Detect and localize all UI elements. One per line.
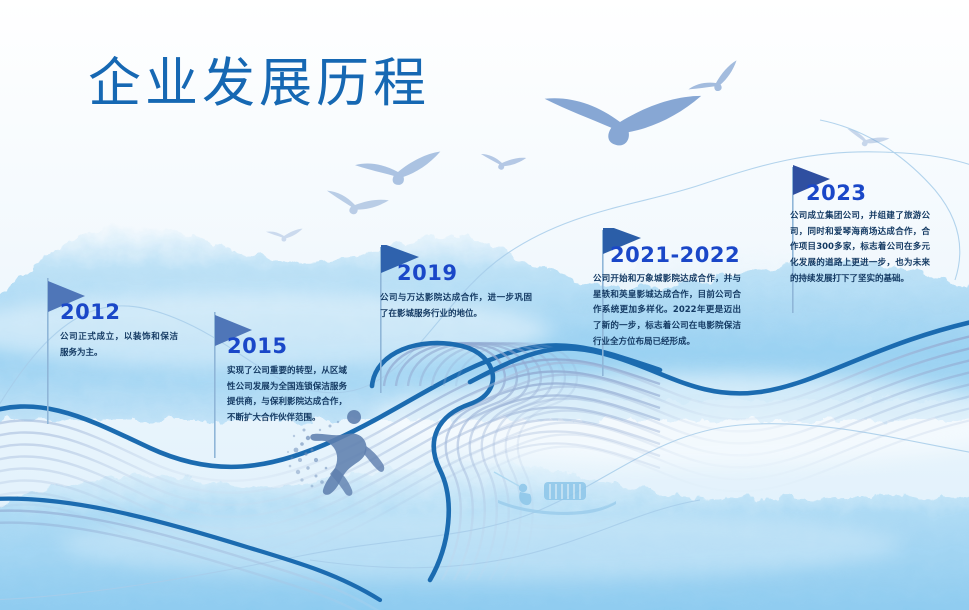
milestone-year: 2012 xyxy=(60,300,120,324)
fishing-boat-icon xyxy=(492,462,622,540)
milestone-description: 公司与万达影院达成合作，进一步巩固了在影城服务行业的地位。 xyxy=(380,291,532,322)
page-title: 企业发展历程 xyxy=(88,56,430,112)
milestone-year: 2023 xyxy=(806,181,866,205)
milestone-year: 2015 xyxy=(227,334,287,358)
milestone-year: 2021-2022 xyxy=(610,243,740,267)
milestone-description: 公司正式成立，以装饰和保洁服务为主。 xyxy=(60,330,178,361)
milestone-description: 实现了公司重要的转型，从区域性公司发展为全国连锁保洁服务提供商，与保利影院达成合… xyxy=(227,364,347,427)
milestone-description: 公司开始和万象城影院达成合作，并与星轶和英皇影城达成合作，目前公司合作系统更加多… xyxy=(593,272,741,351)
milestone-year: 2019 xyxy=(397,261,457,285)
poster-canvas: 2012 公司正式成立，以装饰和保洁服务为主。 2015 实现了公司重要的转型，… xyxy=(0,0,969,610)
milestone-description: 公司成立集团公司，并组建了旅游公司，同时和爱琴海商场达成合作，合作项目300多家… xyxy=(790,209,930,288)
